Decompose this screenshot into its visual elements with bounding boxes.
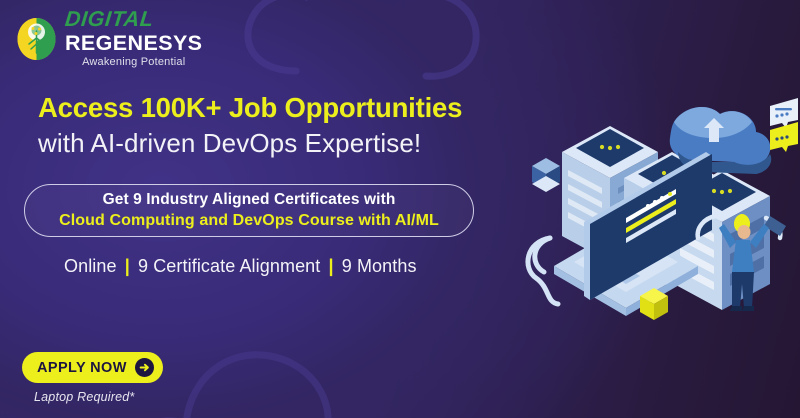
detail-duration: 9 Months (342, 256, 417, 276)
headline-line-2: with AI-driven DevOps Expertise! (38, 128, 462, 159)
cloud-outline-watermark (236, 0, 486, 106)
detail-separator-1: | (122, 256, 133, 276)
isometric-cloud-datacenter-illustration (498, 92, 800, 332)
headline: Access 100K+ Job Opportunities with AI-d… (38, 92, 462, 159)
blue-cube (532, 158, 560, 192)
offer-badge-line-2: Cloud Computing and DevOps Course with A… (59, 212, 439, 230)
detail-separator-2: | (326, 256, 337, 276)
logo-name-secondary: REGENESYS (65, 33, 202, 55)
detail-mode: Online (64, 256, 117, 276)
laptop-required-note: Laptop Required* (34, 390, 135, 404)
network-cables (528, 238, 558, 304)
offer-badge: Get 9 Industry Aligned Certificates with… (24, 184, 474, 237)
cloud-upload-icon (670, 107, 771, 174)
apply-now-button[interactable]: APPLY NOW (22, 352, 163, 383)
tree-emblem-icon (16, 17, 57, 61)
apply-now-label: APPLY NOW (37, 360, 127, 376)
logo-tagline: Awakening Potential (65, 57, 202, 68)
headline-line-1: Access 100K+ Job Opportunities (38, 92, 462, 124)
detail-certificates: 9 Certificate Alignment (138, 256, 320, 276)
brand-logo[interactable]: DIGITAL REGENESYS Awakening Potential (16, 9, 202, 68)
arrow-right-circle-icon (135, 358, 154, 377)
course-details: Online | 9 Certificate Alignment | 9 Mon… (64, 256, 417, 277)
promotional-banner: DIGITAL REGENESYS Awakening Potential Ac… (0, 0, 800, 418)
notification-card-yellow (770, 122, 798, 152)
offer-badge-line-1: Get 9 Industry Aligned Certificates with (103, 191, 396, 209)
logo-name-primary: DIGITAL (64, 9, 204, 31)
